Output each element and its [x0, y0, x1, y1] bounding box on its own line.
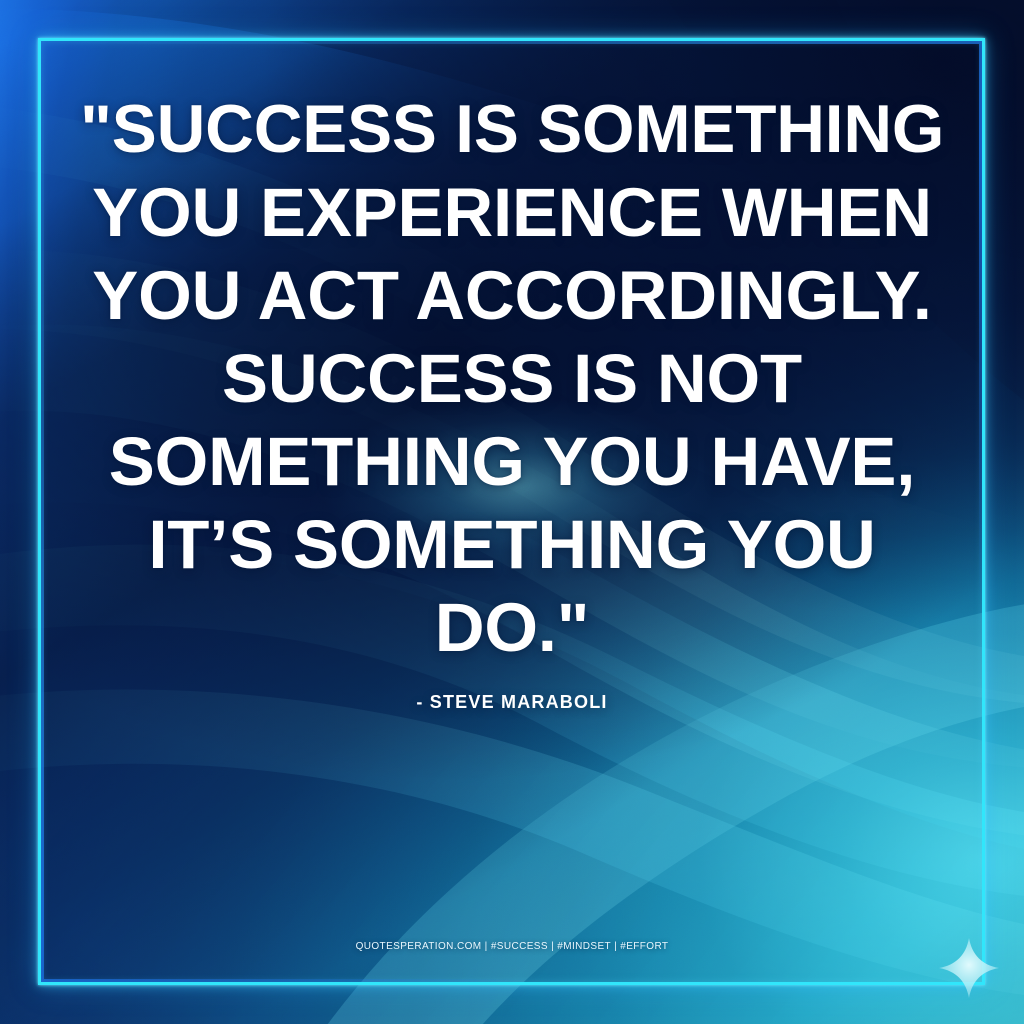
quote-text: "SUCCESS IS SOMETHING YOU EXPERIENCE WHE… — [80, 88, 944, 669]
quote-line-6: IT’S SOMETHING YOU — [80, 503, 944, 586]
quote-attribution: - STEVE MARABOLI — [0, 692, 1024, 713]
quote-line-4: SUCCESS IS NOT — [80, 337, 944, 420]
quote-line-7: DO." — [80, 586, 944, 669]
quote-poster: "SUCCESS IS SOMETHING YOU EXPERIENCE WHE… — [0, 0, 1024, 1024]
poster-content: "SUCCESS IS SOMETHING YOU EXPERIENCE WHE… — [0, 0, 1024, 1024]
quote-line-2: YOU EXPERIENCE WHEN — [80, 171, 944, 254]
quote-line-1: "SUCCESS IS SOMETHING — [80, 88, 944, 171]
quote-line-3: YOU ACT ACCORDINGLY. — [80, 254, 944, 337]
quote-line-5: SOMETHING YOU HAVE, — [80, 420, 944, 503]
footer-credit-hashtags: QUOTESPERATION.COM | #SUCCESS | #MINDSET… — [0, 941, 1024, 952]
